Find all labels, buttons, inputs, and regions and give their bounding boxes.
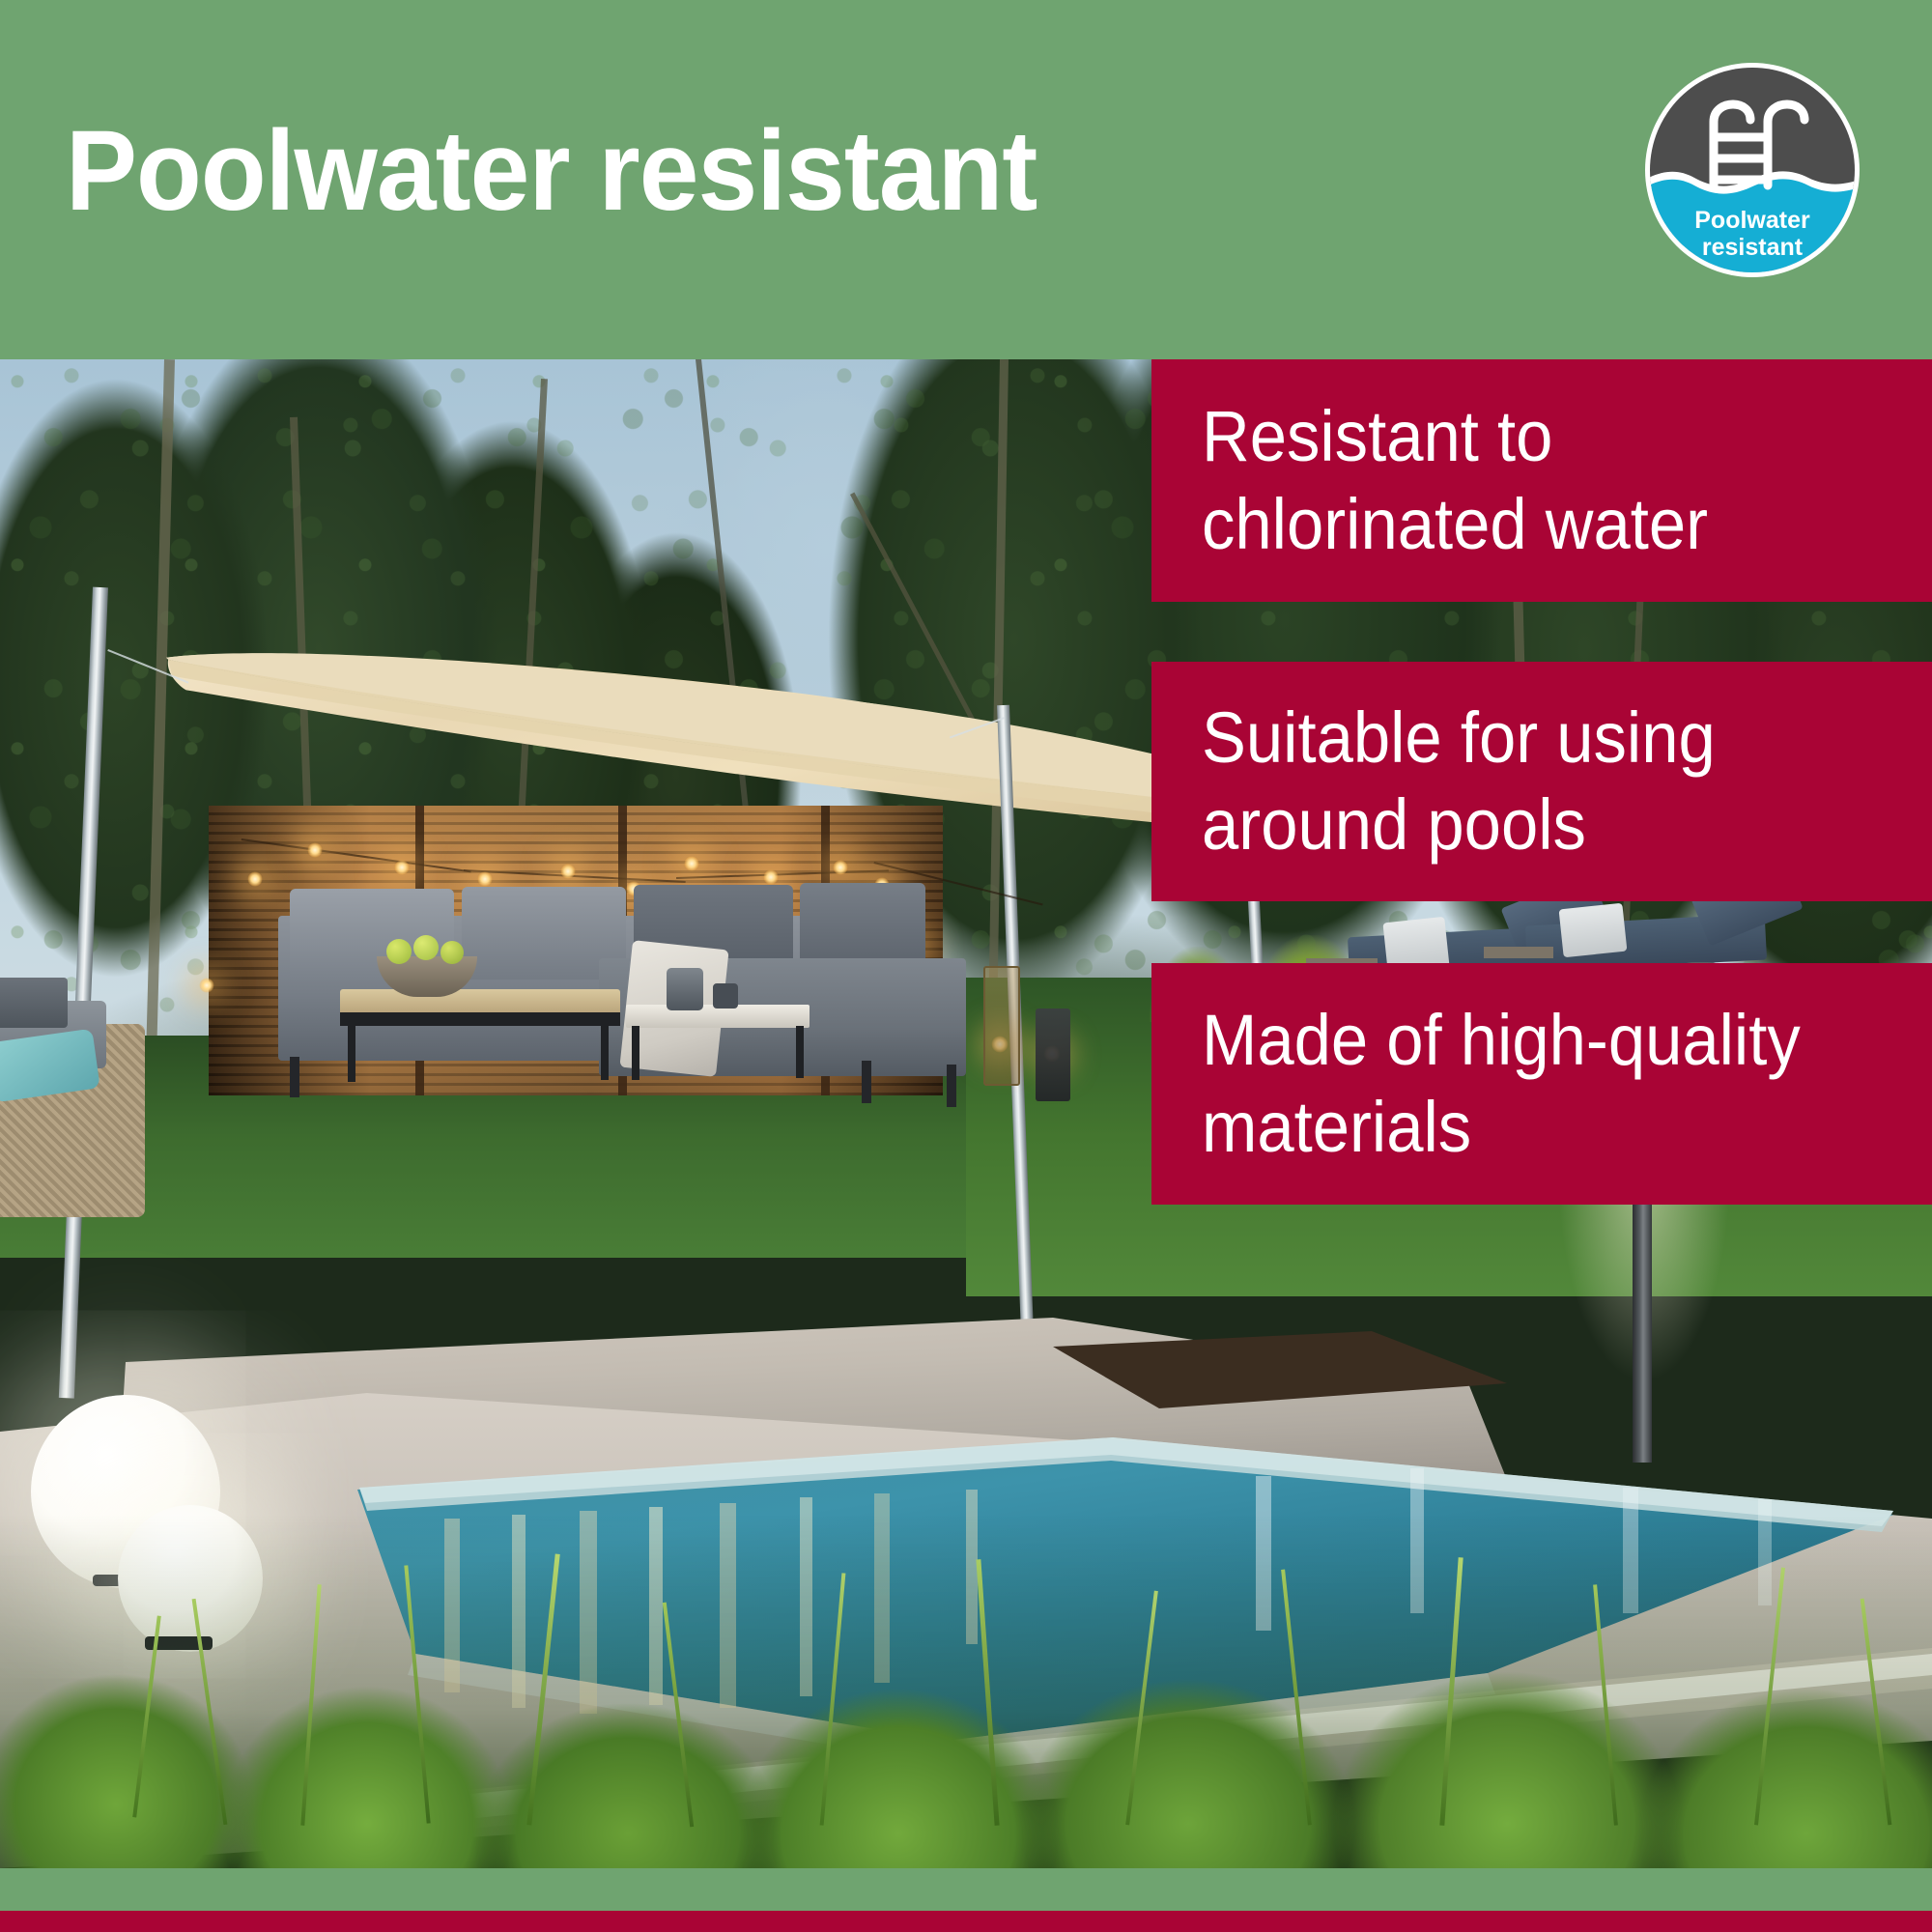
header-band: Poolwater resistant — [0, 0, 1932, 359]
fairy-light — [247, 871, 263, 887]
page-title: Poolwater resistant — [66, 114, 1037, 228]
lounger-side-table — [1484, 947, 1553, 958]
callout-text: Resistant to chlorinated water — [1202, 393, 1881, 568]
fruit — [413, 935, 439, 960]
side-table-leg — [632, 1026, 639, 1080]
coffee-table-leg — [348, 1024, 355, 1082]
callout-resistant-to-chlorinated-water: Resistant to chlorinated water — [1151, 359, 1932, 602]
footer-red-band — [0, 1911, 1932, 1932]
fairy-light — [684, 856, 699, 871]
coffee-table-frame — [340, 1012, 620, 1026]
side-table-leg — [796, 1026, 804, 1078]
callout-text: Made of high-quality materials — [1202, 997, 1881, 1172]
tall-lantern — [983, 966, 1020, 1086]
fruit — [386, 939, 412, 964]
callout-text: Suitable for using around pools — [1202, 695, 1881, 869]
sofa-leg — [290, 1057, 299, 1097]
fairy-light — [394, 860, 410, 875]
kettle — [667, 968, 703, 1010]
fruit — [440, 941, 464, 964]
poster: Poolwater resistant — [0, 0, 1932, 1932]
fairy-light — [307, 842, 323, 858]
fairy-light — [560, 864, 576, 879]
badge-text-line2: resistant — [1702, 234, 1804, 261]
wicker-side-table — [0, 978, 68, 1028]
fairy-light — [763, 869, 779, 885]
badge-text-line1: Poolwater — [1694, 207, 1810, 234]
coffee-table-leg — [601, 1024, 609, 1080]
sun-lounger-towel — [1559, 903, 1628, 958]
cup — [713, 983, 738, 1009]
fairy-light — [833, 860, 848, 875]
bollard-light-foreground — [1633, 1173, 1652, 1463]
callout-suitable-for-using-around-pools: Suitable for using around pools — [1151, 662, 1932, 901]
poolwater-resistant-badge: Poolwater resistant — [1644, 62, 1861, 278]
sofa-leg — [862, 1061, 871, 1103]
sofa-leg — [947, 1065, 956, 1107]
short-lantern — [1036, 1009, 1070, 1101]
fairy-light — [477, 871, 493, 887]
footer-green-band — [0, 1868, 1932, 1911]
foreground-grass — [0, 1515, 1932, 1868]
callout-made-of-high-quality-materials: Made of high-quality materials — [1151, 963, 1932, 1205]
badge-svg: Poolwater resistant — [1644, 62, 1861, 278]
